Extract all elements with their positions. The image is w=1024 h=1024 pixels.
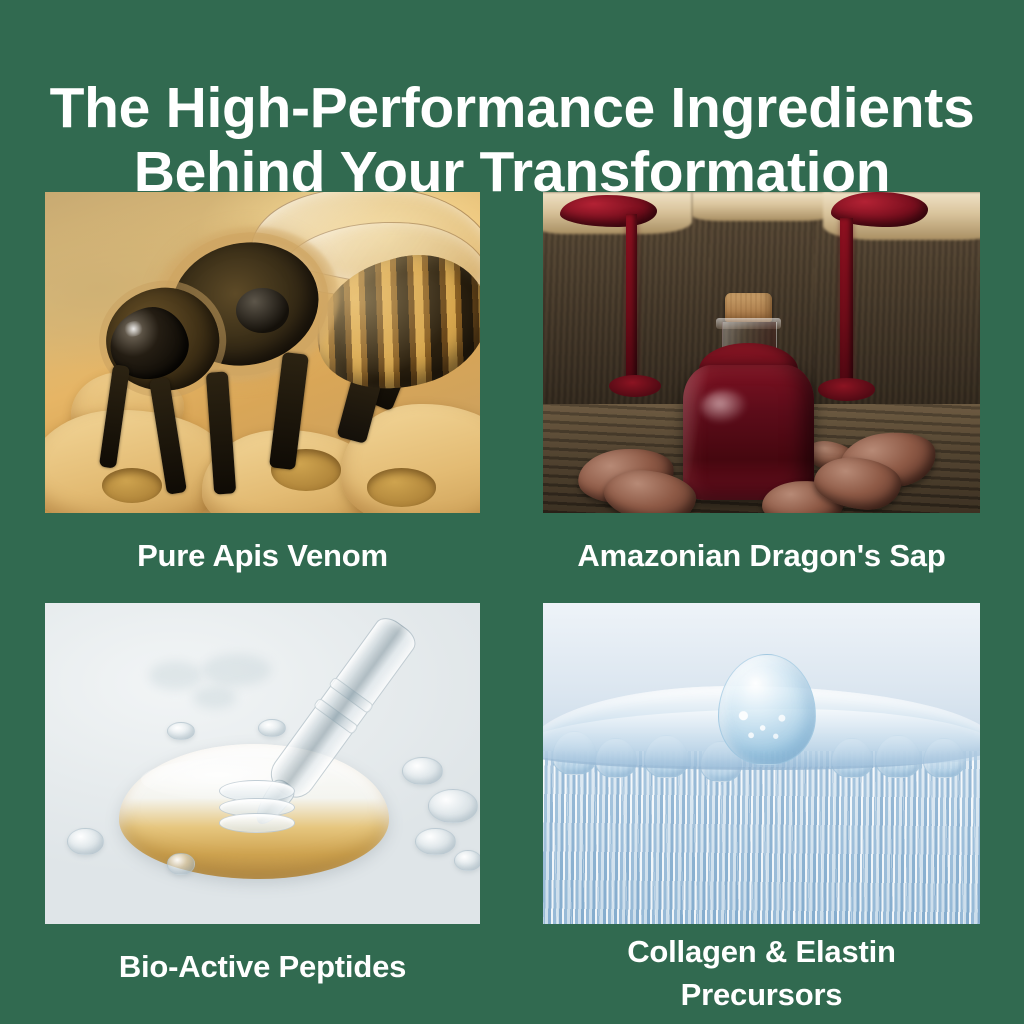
peptide-dropper-photo <box>45 603 480 924</box>
collagen-fibers-photo <box>543 603 980 924</box>
water-droplet <box>415 828 456 856</box>
ingredient-caption-peptide: Bio-Active Peptides <box>45 945 480 988</box>
bee-compound-eye <box>236 288 288 333</box>
sap-drip-blob <box>560 195 656 227</box>
water-droplet <box>167 722 195 740</box>
ingredient-image-bee <box>45 192 480 513</box>
bee-photo <box>45 192 480 513</box>
sap-bottle <box>683 288 814 500</box>
ingredient-image-peptide <box>45 603 480 924</box>
cut-wood-surface <box>692 192 832 221</box>
sap-drip-pool <box>818 378 875 400</box>
ingredient-caption-bee: Pure Apis Venom <box>45 534 480 577</box>
large-gel-bubble <box>718 654 816 765</box>
water-droplet <box>428 789 478 823</box>
falling-serum-droplets <box>219 780 293 831</box>
sap-drip-stream <box>626 214 637 381</box>
blurred-droplet <box>193 686 237 708</box>
sap-drip-stream <box>840 218 853 388</box>
bottle-body <box>683 365 814 501</box>
ingredient-caption-collagen: Collagen & Elastin Precursors <box>543 930 980 1016</box>
serum-droplet <box>219 813 295 832</box>
honeycomb-hole <box>367 468 437 507</box>
water-droplet <box>454 850 480 871</box>
water-droplet <box>67 828 104 856</box>
ingredient-caption-sap: Amazonian Dragon's Sap <box>533 534 990 577</box>
ingredient-image-collagen <box>543 603 980 924</box>
water-droplet <box>258 719 286 737</box>
ingredients-poster: The High-Performance Ingredients Behind … <box>0 0 1024 1024</box>
bottle-highlight <box>701 390 748 424</box>
dragon-sap-photo <box>543 192 980 513</box>
water-droplet <box>167 853 195 874</box>
ingredient-image-sap <box>543 192 980 513</box>
water-droplet <box>402 757 443 785</box>
page-title: The High-Performance Ingredients Behind … <box>0 76 1024 204</box>
blurred-droplet <box>149 661 201 690</box>
